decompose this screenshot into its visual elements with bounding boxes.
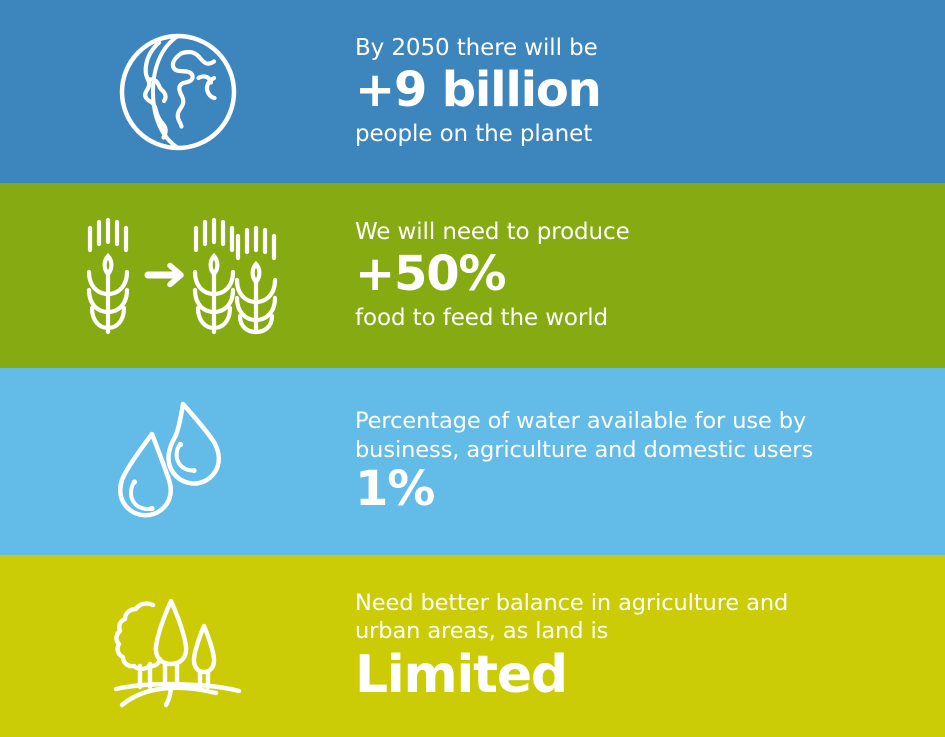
icon-cell-food <box>0 216 355 336</box>
icon-cell-water <box>0 394 355 529</box>
text-cell-water: Percentage of water available for use by… <box>355 407 945 516</box>
population-lead-text: By 2050 there will be <box>355 34 921 63</box>
land-lead-text-2: urban areas, as land is <box>355 617 921 645</box>
water-lead-text-2: business, agriculture and domestic users <box>355 436 921 464</box>
population-stat: +9 billion <box>355 65 921 117</box>
text-cell-food: We will need to produce +50% food to fee… <box>355 218 945 334</box>
icon-cell-population <box>0 29 355 155</box>
band-food: We will need to produce +50% food to fee… <box>0 183 945 368</box>
trees-landscape-icon <box>108 581 248 711</box>
population-trail-text: people on the planet <box>355 120 921 149</box>
wheat-growth-icon <box>70 216 285 336</box>
food-trail-text: food to feed the world <box>355 304 921 333</box>
text-cell-land: Need better balance in agriculture and u… <box>355 589 945 704</box>
food-stat: +50% <box>355 249 921 301</box>
water-stat: 1% <box>355 464 921 516</box>
band-population: By 2050 there will be +9 billion people … <box>0 0 945 183</box>
land-lead-text: Need better balance in agriculture and <box>355 589 921 617</box>
land-stat: Limited <box>355 647 921 703</box>
water-lead-text: Percentage of water available for use by <box>355 407 921 435</box>
text-cell-population: By 2050 there will be +9 billion people … <box>355 34 945 150</box>
food-lead-text: We will need to produce <box>355 218 921 247</box>
icon-cell-land <box>0 581 355 711</box>
band-land: Need better balance in agriculture and u… <box>0 555 945 737</box>
band-water: Percentage of water available for use by… <box>0 368 945 555</box>
globe-icon <box>115 29 241 155</box>
water-drops-icon <box>108 394 248 529</box>
infographic-root: By 2050 there will be +9 billion people … <box>0 0 945 737</box>
